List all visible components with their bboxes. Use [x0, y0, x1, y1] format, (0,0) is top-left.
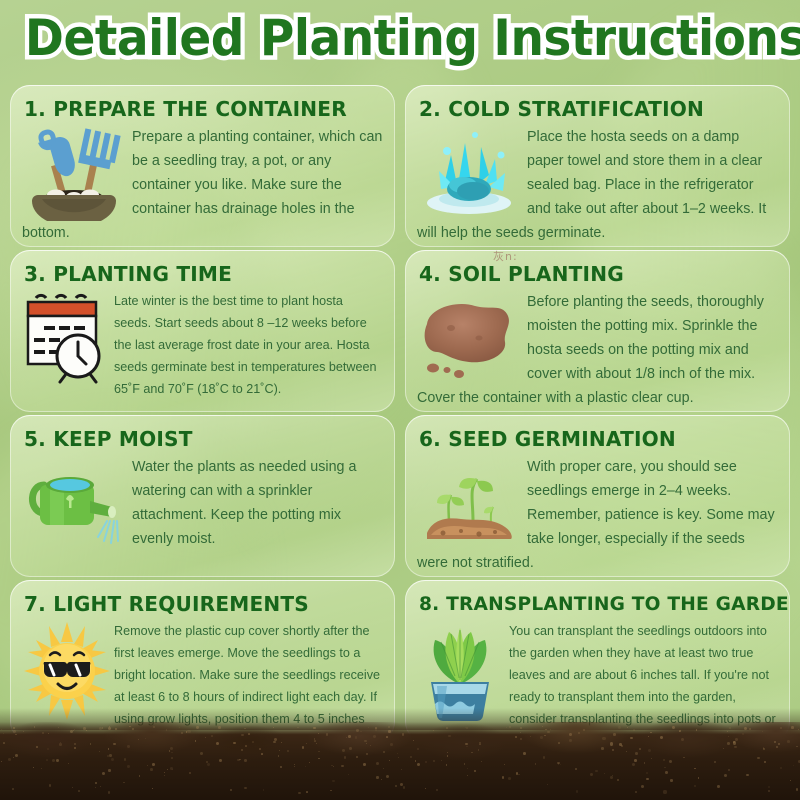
soil-mound-icon	[417, 290, 521, 386]
instruction-card-1: 1. PREPARE THE CONTAINER	[10, 85, 395, 247]
soil-strip	[0, 722, 800, 800]
instruction-card-8: 8. TRANSPLANTING TO THE GARDEN	[405, 580, 790, 742]
card-2-body-wrap: Place the hosta seeds on a damp paper to…	[417, 125, 778, 245]
card-4-title: 4. SOIL PLANTING	[419, 262, 771, 286]
card-2-title: 2. COLD STRATIFICATION	[419, 97, 771, 121]
card-3-body-wrap: Late winter is the best time to plant ho…	[22, 290, 383, 400]
instruction-card-2: 2. COLD STRATIFICATION	[405, 85, 790, 247]
card-5-body: Water the plants as needed using a water…	[132, 459, 356, 547]
page-title: Detailed Planting Instructions	[25, 6, 800, 70]
watering-can-icon	[22, 455, 126, 551]
card-1-body-wrap: Prepare a planting container, which can …	[22, 125, 383, 245]
potted-hosta-plant-icon	[417, 620, 503, 724]
seedlings-in-soil-icon	[417, 455, 521, 551]
trowel-and-fork-in-bowl-icon	[22, 125, 126, 221]
card-8-title: 8. TRANSPLANTING TO THE GARDEN	[419, 592, 771, 616]
card-7-title: 7. LIGHT REQUIREMENTS	[24, 592, 376, 616]
card-3-title: 3. PLANTING TIME	[24, 262, 376, 286]
instruction-card-5: 5. KEEP MOIST	[10, 415, 395, 577]
card-4-body-wrap: Before planting the seeds, thoroughly mo…	[417, 290, 778, 410]
card-3-body: Late winter is the best time to plant ho…	[114, 294, 377, 396]
water-splash-icon	[417, 125, 521, 221]
card-1-title: 1. PREPARE THE CONTAINER	[24, 97, 376, 121]
sun-with-sunglasses-icon	[22, 620, 108, 724]
instruction-card-6: 6. SEED GERMINATION	[405, 415, 790, 577]
instruction-card-7: 7. LIGHT REQUIREMENTS	[10, 580, 395, 742]
instruction-card-3: 3. PLANTING TIME	[10, 250, 395, 412]
instruction-card-4: 灰n: 4. SOIL PLANTING	[405, 250, 790, 412]
card-5-title: 5. KEEP MOIST	[24, 427, 376, 451]
card-6-body-wrap: With proper care, you should see seedlin…	[417, 455, 778, 575]
calendar-clock-icon	[22, 290, 108, 394]
instruction-card-grid: 1. PREPARE THE CONTAINER	[10, 85, 790, 742]
card-6-title: 6. SEED GERMINATION	[419, 427, 771, 451]
card-5-body-wrap: Water the plants as needed using a water…	[22, 455, 383, 551]
infographic-poster: Detailed Planting Instructions 1. PREPAR…	[0, 0, 800, 800]
poster-header: Detailed Planting Instructions	[0, 6, 800, 70]
